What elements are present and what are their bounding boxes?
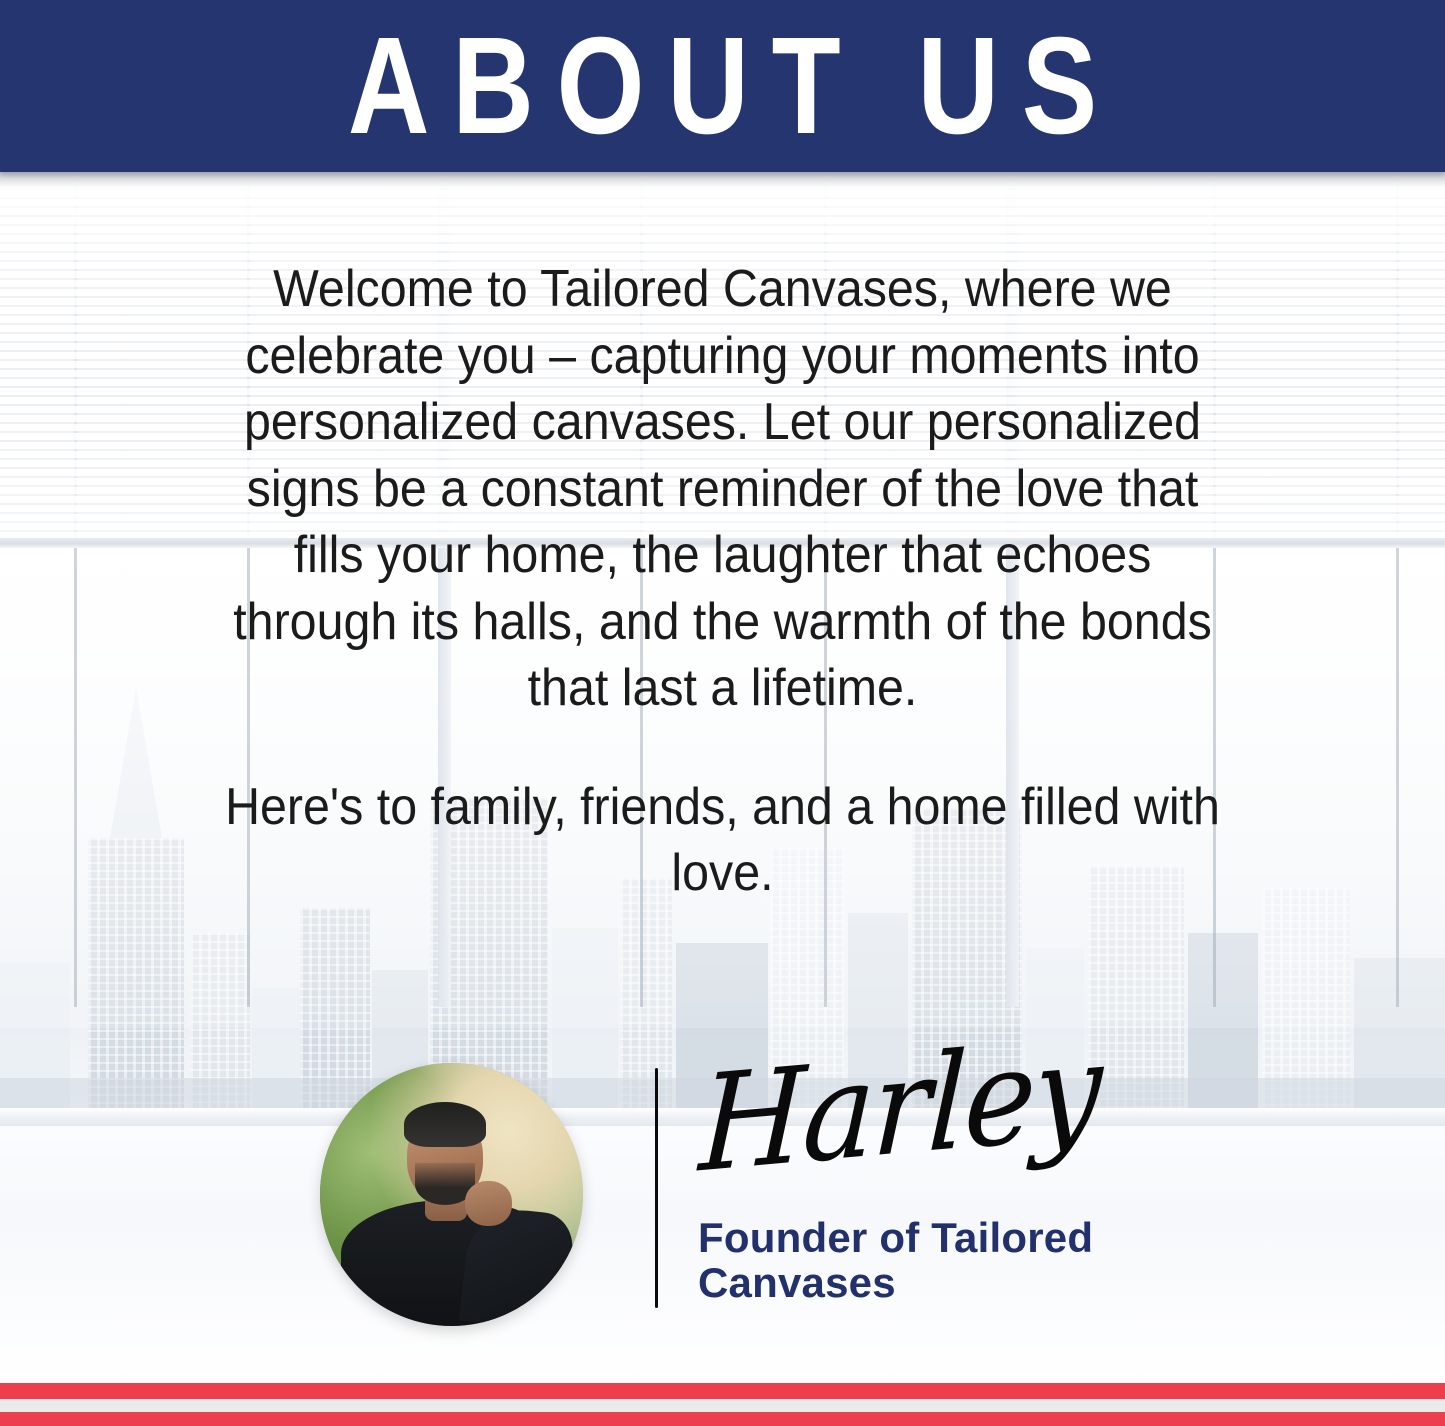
avatar-hair (404, 1102, 486, 1147)
founder-role-line-2: Canvases (698, 1261, 1168, 1306)
founder-role: Founder of Tailored Canvases (698, 1216, 1168, 1305)
about-us-card: ABOUT US Welcome to Tailored Canvases, w… (0, 0, 1445, 1426)
footer-stripe-gap (0, 1399, 1445, 1412)
header-shadow (0, 172, 1445, 188)
founder-signature-block: Harley Founder of Tailored Canvases (320, 1053, 1160, 1323)
avatar (320, 1063, 583, 1326)
signature-name: Harley (697, 1024, 1102, 1192)
about-paragraph-1: Welcome to Tailored Canvases, where we c… (209, 256, 1237, 722)
about-copy: Welcome to Tailored Canvases, where we c… (209, 256, 1237, 907)
footer-stripe-bottom (0, 1412, 1445, 1426)
footer-stripe-top (0, 1383, 1445, 1399)
signature-divider (655, 1068, 658, 1308)
avatar-hand (465, 1181, 512, 1226)
signature-text-group: Harley (692, 1053, 1162, 1191)
header-banner: ABOUT US (0, 0, 1445, 172)
paragraph-spacer (209, 722, 1237, 774)
founder-role-line-1: Founder of Tailored (698, 1216, 1168, 1261)
page-title: ABOUT US (325, 17, 1120, 155)
about-paragraph-2: Here's to family, friends, and a home fi… (209, 774, 1237, 907)
